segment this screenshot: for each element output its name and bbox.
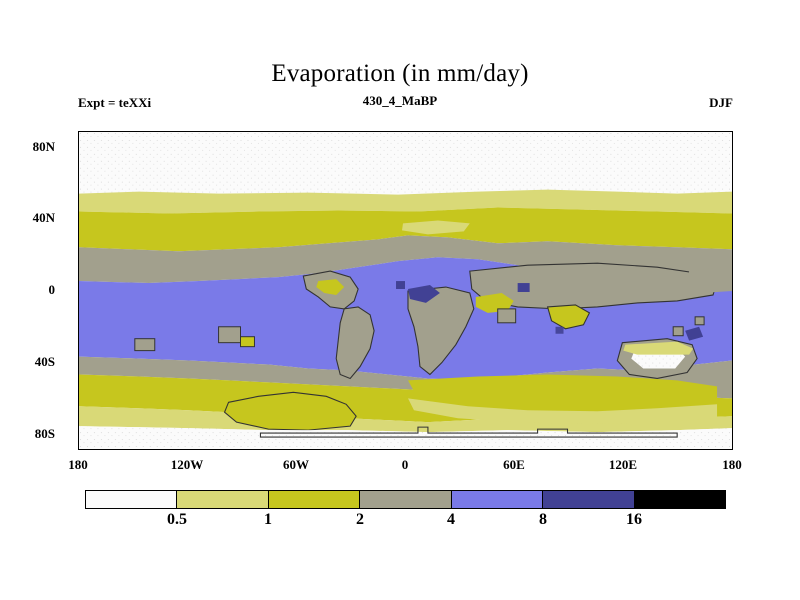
map-plot-area xyxy=(78,131,733,450)
xtick-100w xyxy=(224,449,225,450)
ytick-40s xyxy=(78,362,79,363)
xtick-top-120w xyxy=(188,131,189,132)
ytick-label-40s: 40S xyxy=(0,354,55,370)
ytick-label-80n: 80N xyxy=(0,139,55,155)
xtick-120e xyxy=(624,449,625,450)
ytick-0 xyxy=(78,290,79,291)
ytick-label-40n: 40N xyxy=(0,210,55,226)
chart-title: Evaporation (in mm/day) xyxy=(0,60,800,88)
ytick-60n xyxy=(78,182,79,183)
xtick-180e xyxy=(732,449,733,450)
ytick-label-0: 0 xyxy=(0,282,55,298)
colorbar-band-1-2 xyxy=(269,491,360,508)
colorbar-label-0: 0.5 xyxy=(147,511,207,529)
xtick-top-80e xyxy=(552,131,553,132)
xtick-top-100w xyxy=(224,131,225,132)
ytick-right-20s xyxy=(732,326,733,327)
xtick-60e xyxy=(515,449,516,450)
xtick-20e xyxy=(443,449,444,450)
ytick-right-80s xyxy=(732,434,733,435)
xtick-top-80w xyxy=(261,131,262,132)
xtick-top-20e xyxy=(443,131,444,132)
ytick-20n xyxy=(78,254,79,255)
xtick-top-180w xyxy=(79,131,80,132)
xtick-100e xyxy=(588,449,589,450)
xtick-0 xyxy=(406,449,407,450)
xtick-top-40e xyxy=(479,131,480,132)
ytick-right-60s xyxy=(732,398,733,399)
xtick-top-100e xyxy=(588,131,589,132)
ytick-right-60n xyxy=(732,182,733,183)
colorbar-band-4-8 xyxy=(452,491,543,508)
xtick-label-120e: 120E xyxy=(583,457,663,473)
xtick-label-180w: 180 xyxy=(38,457,118,473)
xtick-40e xyxy=(479,449,480,450)
xtick-160e xyxy=(697,449,698,450)
xtick-top-140w xyxy=(152,131,153,132)
xtick-140e xyxy=(661,449,662,450)
colorbar-label-2: 2 xyxy=(330,511,390,529)
xtick-80w xyxy=(261,449,262,450)
xtick-label-60w: 60W xyxy=(256,457,336,473)
xtick-top-60w xyxy=(297,131,298,132)
ytick-80n xyxy=(78,147,79,148)
ytick-right-20n xyxy=(732,254,733,255)
colorbar-band-gt-16 xyxy=(635,491,725,508)
ytick-right-0 xyxy=(732,290,733,291)
colorbar-band-2-4 xyxy=(360,491,451,508)
ytick-label-80s: 80S xyxy=(0,426,55,442)
xtick-top-20w xyxy=(370,131,371,132)
colorbar-label-1: 1 xyxy=(238,511,298,529)
xtick-top-40w xyxy=(334,131,335,132)
xtick-top-60e xyxy=(515,131,516,132)
ytick-right-40n xyxy=(732,218,733,219)
xtick-40w xyxy=(334,449,335,450)
xtick-60w xyxy=(297,449,298,450)
xtick-top-120e xyxy=(624,131,625,132)
xtick-top-160w xyxy=(115,131,116,132)
xtick-top-140e xyxy=(661,131,662,132)
xtick-label-120w: 120W xyxy=(147,457,227,473)
xtick-top-0 xyxy=(406,131,407,132)
ytick-20s xyxy=(78,326,79,327)
ytick-right-80n xyxy=(732,147,733,148)
colorbar-band-lt-0.5 xyxy=(86,491,177,508)
colorbar-label-5: 16 xyxy=(604,511,664,529)
xtick-label-0: 0 xyxy=(365,457,445,473)
ytick-40n xyxy=(78,218,79,219)
xtick-140w xyxy=(152,449,153,450)
ytick-right-40s xyxy=(732,362,733,363)
colorbar-label-3: 4 xyxy=(421,511,481,529)
xtick-120w xyxy=(188,449,189,450)
xtick-160w xyxy=(115,449,116,450)
experiment-label: Expt = teXXi xyxy=(78,95,151,111)
ytick-80s xyxy=(78,434,79,435)
xtick-80e xyxy=(552,449,553,450)
ytick-60s xyxy=(78,398,79,399)
colorbar-label-4: 8 xyxy=(513,511,573,529)
xtick-top-160e xyxy=(697,131,698,132)
evaporation-contour-map xyxy=(79,132,732,449)
colorbar xyxy=(85,490,726,509)
colorbar-band-0.5-1 xyxy=(177,491,268,508)
xtick-label-180e: 180 xyxy=(692,457,772,473)
xtick-20w xyxy=(370,449,371,450)
season-label: DJF xyxy=(633,95,733,111)
xtick-top-180e xyxy=(732,131,733,132)
xtick-180w xyxy=(79,449,80,450)
colorbar-band-8-16 xyxy=(543,491,634,508)
figure-canvas: Evaporation (in mm/day) 430_4_MaBP Expt … xyxy=(0,0,800,600)
xtick-label-60e: 60E xyxy=(474,457,554,473)
